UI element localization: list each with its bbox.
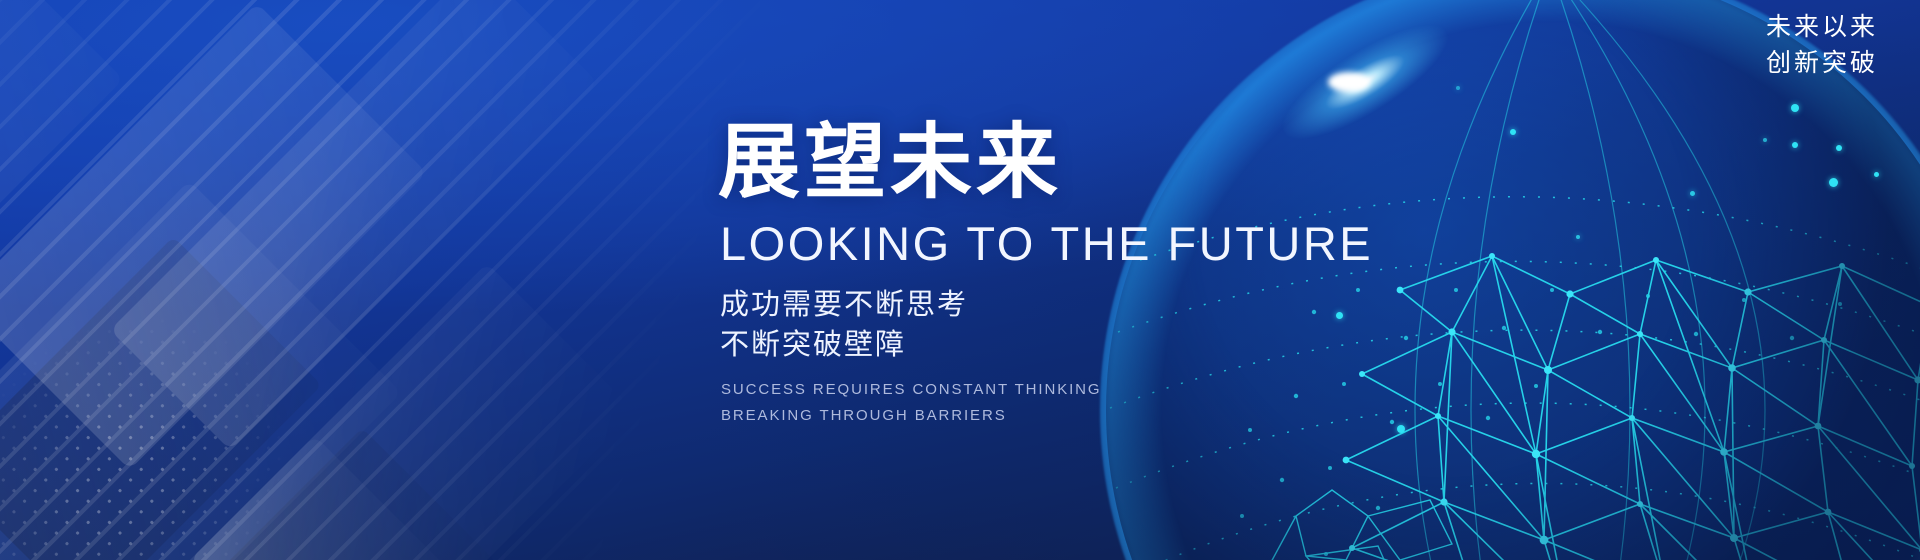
- headline-block: 展望未来 LOOKING TO THE FUTURE 成功需要不断思考 不断突破…: [718, 120, 1478, 429]
- subtitle-chinese: 成功需要不断思考 不断突破壁障: [720, 285, 1478, 365]
- corner-slogan: 未来以来 创新突破: [1766, 10, 1878, 81]
- corner-slogan-line-1: 未来以来: [1766, 10, 1878, 46]
- subtitle-chinese-line-1: 成功需要不断思考: [720, 285, 1478, 325]
- corner-slogan-line-2: 创新突破: [1766, 46, 1878, 82]
- subtitle-english-line-2: BREAKING THROUGH BARRIERS: [721, 403, 1478, 429]
- banner: 展望未来 LOOKING TO THE FUTURE 成功需要不断思考 不断突破…: [0, 0, 1920, 560]
- diagonal-geometric-pattern: [0, 0, 760, 560]
- page-title: 展望未来: [718, 120, 1478, 206]
- light-flare-core: [1328, 72, 1370, 92]
- subtitle-chinese-line-2: 不断突破壁障: [720, 325, 1478, 365]
- headline-english: LOOKING TO THE FUTURE: [720, 218, 1478, 271]
- subtitle-english-line-1: SUCCESS REQUIRES CONSTANT THINKING: [721, 377, 1478, 403]
- subtitle-english: SUCCESS REQUIRES CONSTANT THINKING BREAK…: [721, 377, 1478, 430]
